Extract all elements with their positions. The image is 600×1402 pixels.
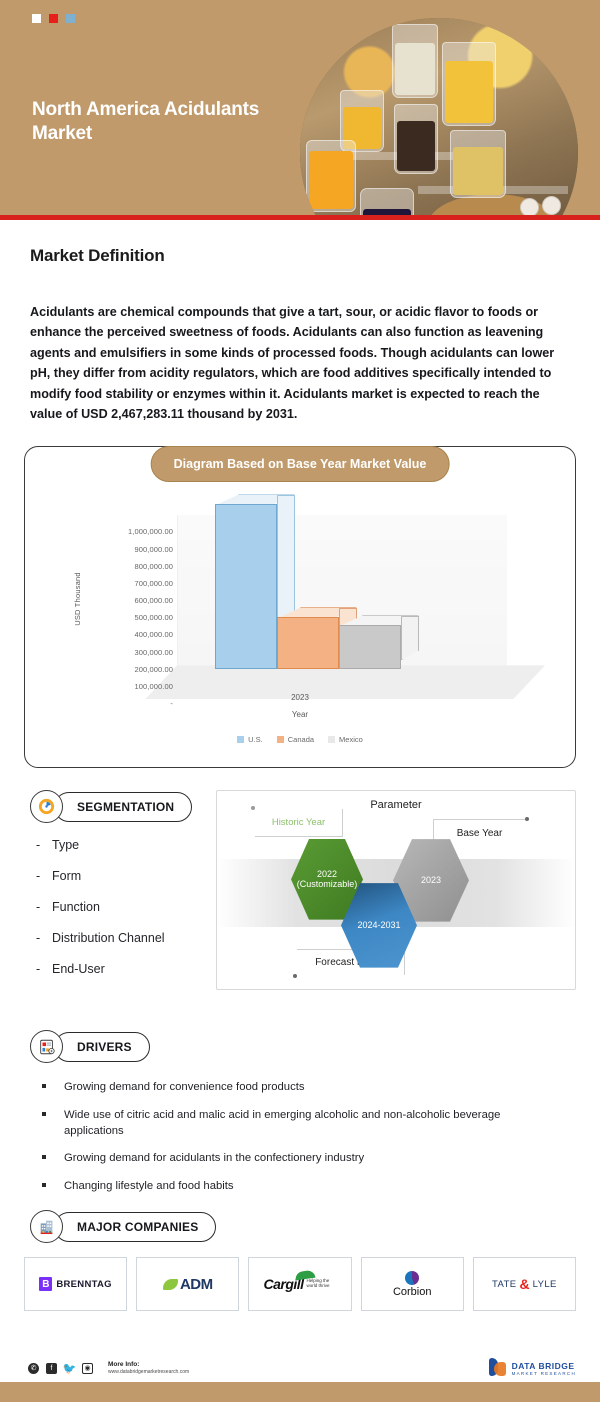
dot-blue-icon <box>66 14 75 23</box>
chart-card: USD Thousand 1,000,000.00 900,000.00 800… <box>24 446 576 768</box>
logo-brenntag: B BRENNTAG <box>24 1257 127 1311</box>
segmentation-list: Type Form Function Distribution Channel … <box>34 838 224 993</box>
companies-header: MAJOR COMPANIES <box>0 1210 600 1243</box>
clipboard-chart-icon <box>30 1030 63 1063</box>
drivers-header: DRIVERS <box>0 1030 600 1063</box>
y-tick: 1,000,000.00 <box>81 523 173 540</box>
social-links: ✆ f 🐦 ◉ More Info: www.databridgemarketr… <box>28 1361 189 1375</box>
market-definition-body: Acidulants are chemical compounds that g… <box>30 302 570 424</box>
page-header: North America Acidulants Market <box>0 0 600 215</box>
logo-tate-lyle: TATE & LYLE <box>473 1257 576 1311</box>
y-tick: 500,000.00 <box>81 609 173 626</box>
adm-wordmark: ADM <box>180 1276 213 1293</box>
drivers-list: Growing demand for convenience food prod… <box>38 1079 600 1194</box>
footer-accent-bar <box>0 1382 600 1402</box>
legend-item-canada: Canada <box>277 735 314 744</box>
brenntag-mark-icon: B <box>39 1277 52 1291</box>
dot-red-icon <box>49 14 58 23</box>
chart-y-axis-ticks: 1,000,000.00 900,000.00 800,000.00 700,0… <box>81 523 173 712</box>
driver-item: Growing demand for acidulants in the con… <box>38 1150 558 1166</box>
chart-legend: U.S. Canada Mexico <box>25 735 575 744</box>
legend-swatch-icon <box>277 736 284 743</box>
whatsapp-icon[interactable]: ✆ <box>28 1363 39 1374</box>
cargill-tagline: Helping the world thrive <box>307 1279 337 1289</box>
legend-label: U.S. <box>248 735 263 744</box>
logo-adm: ADM <box>136 1257 239 1311</box>
tate-wordmark: TATE <box>492 1279 516 1290</box>
photo-jar <box>394 104 438 174</box>
website-url[interactable]: www.databridgemarketresearch.com <box>108 1369 189 1375</box>
brenntag-wordmark: BRENNTAG <box>56 1279 112 1290</box>
chart-x-category: 2023 <box>25 693 575 702</box>
corbion-wordmark: Corbion <box>393 1286 432 1298</box>
logo-corbion: Corbion <box>361 1257 464 1311</box>
twitter-icon[interactable]: 🐦 <box>64 1363 75 1374</box>
driver-item: Growing demand for convenience food prod… <box>38 1079 558 1095</box>
corbion-mark-icon <box>405 1271 419 1285</box>
y-tick: 700,000.00 <box>81 575 173 592</box>
legend-label: Mexico <box>339 735 363 744</box>
legend-item-us: U.S. <box>237 735 263 744</box>
brand-tagline: MARKET RESEARCH <box>512 1371 576 1376</box>
hexagon-base-year-value: 2023 <box>421 875 441 886</box>
drivers-pill-label: DRIVERS <box>54 1032 150 1062</box>
major-companies-section: MAJOR COMPANIES B BRENNTAG ADM Cargill H… <box>0 1210 600 1311</box>
dot-white-icon <box>32 14 41 23</box>
segmentation-section: SEGMENTATION Type Form Function Distribu… <box>0 790 600 1012</box>
y-tick: 200,000.00 <box>81 661 173 678</box>
brand-name: DATA BRIDGE <box>512 1361 576 1371</box>
y-tick: 900,000.00 <box>81 541 173 558</box>
page-footer: ✆ f 🐦 ◉ More Info: www.databridgemarketr… <box>0 1345 600 1402</box>
page-title: North America Acidulants Market <box>32 98 302 146</box>
photo-cup <box>520 198 539 215</box>
drivers-section: DRIVERS Growing demand for convenience f… <box>0 1030 600 1194</box>
company-logo-row: B BRENNTAG ADM Cargill Helping the world… <box>24 1257 576 1311</box>
lyle-wordmark: LYLE <box>533 1279 557 1290</box>
y-tick: 400,000.00 <box>81 626 173 643</box>
market-definition-heading: Market Definition <box>30 246 570 266</box>
y-tick: 600,000.00 <box>81 592 173 609</box>
tate-ampersand-icon: & <box>520 1276 530 1292</box>
header-dots <box>32 14 75 23</box>
hero-photo <box>300 18 578 215</box>
instagram-icon[interactable]: ◉ <box>82 1363 93 1374</box>
photo-jar <box>306 140 356 212</box>
building-icon <box>30 1210 63 1243</box>
segmentation-item: Function <box>34 900 224 914</box>
facebook-icon[interactable]: f <box>46 1363 57 1374</box>
segmentation-pill-label: SEGMENTATION <box>54 792 192 822</box>
legend-swatch-icon <box>237 736 244 743</box>
segmentation-item: End-User <box>34 962 224 976</box>
segmentation-item: Form <box>34 869 224 883</box>
photo-jar <box>392 24 438 98</box>
chart-plot-area: USD Thousand 1,000,000.00 900,000.00 800… <box>25 447 575 767</box>
photo-jar <box>442 42 496 126</box>
driver-item: Changing lifestyle and food habits <box>38 1178 558 1194</box>
photo-jar <box>360 188 414 215</box>
bar-front-face <box>277 617 339 669</box>
chart-section: Diagram Based on Base Year Market Value … <box>24 446 576 768</box>
bar-front-face <box>215 504 277 669</box>
data-bridge-logo: DATA BRIDGE MARKET RESEARCH <box>487 1358 576 1378</box>
more-info-label: More Info: <box>108 1361 189 1369</box>
legend-swatch-icon <box>328 736 335 743</box>
companies-pill-label: MAJOR COMPANIES <box>54 1212 216 1242</box>
data-bridge-mark-icon <box>487 1358 507 1378</box>
photo-jar <box>450 130 506 198</box>
parameter-diagram: Parameter Historic Year Base Year Foreca… <box>216 790 576 990</box>
segmentation-item: Type <box>34 838 224 852</box>
legend-label: Canada <box>288 735 314 744</box>
y-tick: 300,000.00 <box>81 644 173 661</box>
chart-title-chip: Diagram Based on Base Year Market Value <box>151 446 450 482</box>
more-info-block: More Info: www.databridgemarketresearch.… <box>108 1361 189 1375</box>
segmentation-item: Distribution Channel <box>34 931 224 945</box>
hexagon-historic-year-value: 2022 <box>317 869 337 880</box>
market-definition-section: Market Definition Acidulants are chemica… <box>0 220 600 424</box>
chart-x-axis-title: Year <box>25 710 575 719</box>
hexagon-historic-year-note: (Customizable) <box>297 879 358 890</box>
hexagon-forecast-period-value: 2024-2031 <box>357 920 400 931</box>
historic-year-callout: Historic Year <box>255 809 343 837</box>
driver-item: Wide use of citric acid and malic acid i… <box>38 1107 558 1140</box>
legend-item-mexico: Mexico <box>328 735 363 744</box>
target-clock-icon <box>30 790 63 823</box>
photo-cup <box>542 196 561 215</box>
adm-leaf-icon <box>163 1279 178 1290</box>
logo-cargill: Cargill Helping the world thrive <box>248 1257 351 1311</box>
bar-front-face <box>339 625 401 669</box>
y-tick: 800,000.00 <box>81 558 173 575</box>
